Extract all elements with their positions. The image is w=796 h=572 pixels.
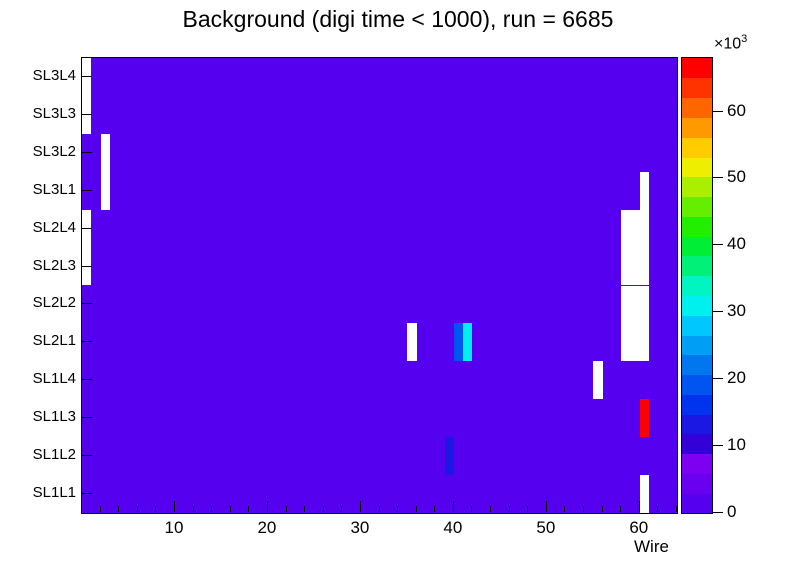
colorbar-band: [682, 177, 712, 197]
x-axis-minor-tick: [583, 506, 584, 512]
x-axis-major-tick: [546, 501, 547, 512]
x-axis-major-tick: [360, 501, 361, 512]
colorbar-tick-label: 40: [727, 234, 746, 254]
heatmap-cells: [82, 58, 677, 513]
colorbar-tick-label: 30: [727, 301, 746, 321]
y-axis-label: SL3L2: [0, 143, 76, 160]
x-axis-minor-tick: [248, 506, 249, 512]
colorbar-band: [682, 137, 712, 157]
x-axis-major-tick: [639, 501, 640, 512]
heatmap-hot-cell[interactable]: [640, 399, 649, 437]
colorbar-tick: [712, 177, 723, 178]
x-axis-minor-tick: [323, 506, 324, 512]
colorbar-tick-label: 20: [727, 368, 746, 388]
colorbar-band: [682, 434, 712, 454]
x-axis-tick-label: 30: [335, 518, 385, 538]
colorbar-band: [682, 117, 712, 137]
y-axis-tick: [81, 266, 92, 267]
y-axis-label: SL1L1: [0, 484, 76, 501]
x-axis-minor-tick: [81, 506, 82, 512]
y-axis-label: SL2L4: [0, 219, 76, 236]
x-axis-minor-tick: [137, 506, 138, 512]
heatmap-empty-cell[interactable]: [640, 172, 649, 210]
colorbar-band: [682, 335, 712, 355]
colorbar-exponent: ×103: [714, 33, 747, 53]
x-axis-minor-tick: [379, 506, 380, 512]
colorbar-tick-label: 10: [727, 435, 746, 455]
y-axis-label: SL1L2: [0, 446, 76, 463]
root-canvas: Background (digi time < 1000), run = 668…: [0, 0, 796, 572]
heatmap-empty-cell[interactable]: [621, 323, 649, 361]
colorbar-band: [682, 454, 712, 474]
x-axis-minor-tick: [527, 506, 528, 512]
x-axis-minor-tick: [155, 506, 156, 512]
x-axis-minor-tick: [193, 506, 194, 512]
heatmap-hot-cell[interactable]: [463, 323, 472, 361]
colorbar-band: [682, 473, 712, 493]
colorbar-band: [682, 414, 712, 434]
x-axis-tick-label: 40: [428, 518, 478, 538]
x-axis-minor-tick: [676, 506, 677, 512]
y-axis-tick: [81, 303, 92, 304]
colorbar-band: [682, 355, 712, 375]
y-axis-label: SL2L3: [0, 257, 76, 274]
x-axis-minor-tick: [286, 506, 287, 512]
heatmap-plot-area[interactable]: [81, 57, 678, 514]
x-axis-tick-label: 10: [149, 518, 199, 538]
y-axis-tick: [81, 379, 92, 380]
x-axis-minor-tick: [118, 506, 119, 512]
colorbar-tick: [712, 111, 723, 112]
colorbar-band: [682, 236, 712, 256]
x-axis-minor-tick: [230, 506, 231, 512]
x-axis-minor-tick: [657, 506, 658, 512]
x-axis-minor-tick: [304, 506, 305, 512]
colorbar[interactable]: [681, 57, 713, 514]
colorbar-tick-label: 50: [727, 167, 746, 187]
page-title: Background (digi time < 1000), run = 668…: [0, 6, 796, 33]
y-axis-label: SL2L1: [0, 332, 76, 349]
colorbar-band: [682, 276, 712, 296]
x-axis-minor-tick: [341, 506, 342, 512]
colorbar-band: [682, 58, 712, 78]
x-axis-minor-tick: [211, 506, 212, 512]
colorbar-exponent-power: 3: [741, 33, 747, 45]
colorbar-tick: [712, 378, 723, 379]
y-axis-tick: [81, 190, 92, 191]
x-axis-major-tick: [174, 501, 175, 512]
colorbar-band: [682, 98, 712, 118]
y-axis-tick: [81, 417, 92, 418]
x-axis-title: Wire: [634, 537, 669, 557]
y-axis-tick: [81, 152, 92, 153]
heatmap-empty-cell[interactable]: [621, 210, 649, 248]
x-axis-minor-tick: [100, 506, 101, 512]
heatmap-empty-cell[interactable]: [593, 361, 602, 399]
heatmap-empty-cell[interactable]: [621, 248, 649, 286]
colorbar-tick: [712, 244, 723, 245]
y-axis-label: SL1L4: [0, 370, 76, 387]
colorbar-band: [682, 216, 712, 236]
x-axis-minor-tick: [620, 506, 621, 512]
heatmap-empty-cell[interactable]: [621, 286, 649, 324]
colorbar-band: [682, 493, 712, 513]
y-axis-tick: [81, 341, 92, 342]
heatmap-empty-cell[interactable]: [640, 475, 649, 513]
heatmap-empty-cell[interactable]: [101, 134, 110, 172]
x-axis-major-tick: [267, 501, 268, 512]
x-axis-minor-tick: [416, 506, 417, 512]
y-axis-label: SL3L1: [0, 181, 76, 198]
y-axis-tick: [81, 228, 92, 229]
colorbar-band: [682, 78, 712, 98]
colorbar-tick: [712, 311, 723, 312]
colorbar-exponent-base: ×10: [714, 35, 741, 52]
x-axis-tick-label: 50: [521, 518, 571, 538]
heatmap-hot-cell[interactable]: [454, 323, 463, 361]
x-axis-tick-label: 60: [614, 518, 664, 538]
x-axis-major-tick: [453, 501, 454, 512]
heatmap-hot-cell[interactable]: [445, 437, 454, 475]
colorbar-band: [682, 196, 712, 216]
heatmap-background: [82, 58, 677, 513]
colorbar-band: [682, 394, 712, 414]
y-axis-label: SL3L4: [0, 67, 76, 84]
colorbar-tick-label: 0: [727, 502, 736, 522]
colorbar-band: [682, 375, 712, 395]
x-axis-minor-tick: [490, 506, 491, 512]
y-axis-tick: [81, 455, 92, 456]
x-axis-tick-label: 20: [242, 518, 292, 538]
heatmap-empty-cell[interactable]: [101, 172, 110, 210]
heatmap-empty-cell[interactable]: [407, 323, 416, 361]
x-axis-minor-tick: [509, 506, 510, 512]
colorbar-band: [682, 315, 712, 335]
colorbar-tick-label: 60: [727, 101, 746, 121]
x-axis-minor-tick: [471, 506, 472, 512]
colorbar-tick: [712, 512, 723, 513]
y-axis-tick: [81, 114, 92, 115]
y-axis-label: SL3L3: [0, 105, 76, 122]
x-axis-minor-tick: [564, 506, 565, 512]
colorbar-band: [682, 295, 712, 315]
colorbar-band: [682, 157, 712, 177]
x-axis-minor-tick: [397, 506, 398, 512]
y-axis-tick: [81, 76, 92, 77]
y-axis-label: SL2L2: [0, 294, 76, 311]
x-axis-minor-tick: [602, 506, 603, 512]
x-axis-minor-tick: [434, 506, 435, 512]
colorbar-band: [682, 256, 712, 276]
y-axis-label: SL1L3: [0, 408, 76, 425]
colorbar-tick: [712, 445, 723, 446]
y-axis-tick: [81, 493, 92, 494]
